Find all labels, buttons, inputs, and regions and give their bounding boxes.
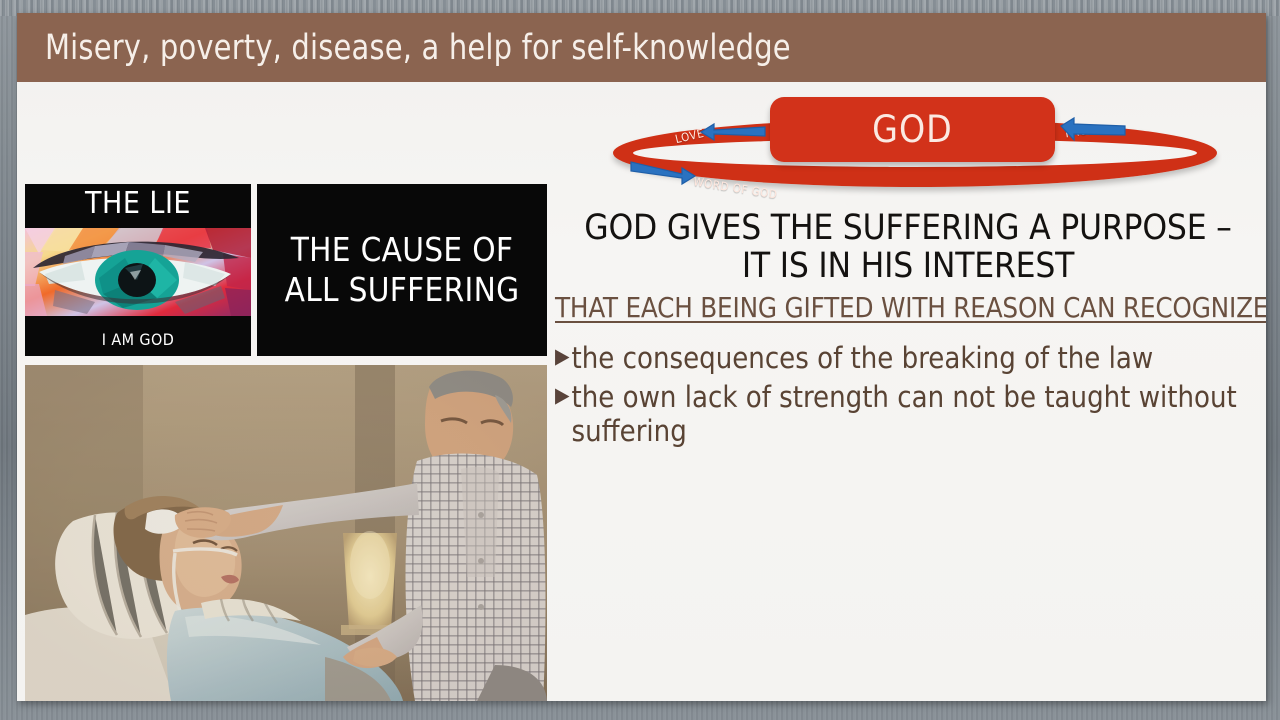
page-title: Misery, poverty, disease, a help for sel…: [45, 28, 791, 68]
list-item: ▶ the consequences of the breaking of th…: [555, 341, 1261, 375]
the-lie-card: THE LIE: [25, 184, 251, 356]
the-lie-subtitle: I AM GOD: [25, 330, 251, 349]
list-item-label: the consequences of the breaking of the …: [572, 341, 1261, 375]
content-column: GOD GIVES THE SUFFERING A PURPOSE – IT I…: [555, 209, 1261, 453]
desktop-background: Misery, poverty, disease, a help for sel…: [0, 0, 1280, 720]
cause-of-suffering-text: THE CAUSE OF ALL SUFFERING: [285, 230, 520, 311]
list-item: ▶ the own lack of strength can not be ta…: [555, 380, 1261, 448]
triangle-bullet-icon: ▶: [555, 341, 570, 373]
left-arrow-icon: [701, 121, 767, 143]
slide-title-bar: Misery, poverty, disease, a help for sel…: [17, 13, 1266, 82]
sub-headline: THAT EACH BEING GIFTED WITH REASON CAN R…: [555, 293, 1261, 323]
list-item-label: the own lack of strength can not be taug…: [572, 380, 1261, 448]
triangle-bullet-icon: ▶: [555, 380, 570, 412]
presentation-slide: Misery, poverty, disease, a help for sel…: [17, 13, 1266, 701]
main-headline: GOD GIVES THE SUFFERING A PURPOSE – IT I…: [555, 209, 1261, 285]
bullet-list: ▶ the consequences of the breaking of th…: [555, 341, 1261, 449]
god-cycle-diagram: GOD LOVE WORD OF GOD FRUIT: [605, 97, 1225, 207]
cause-of-suffering-card: THE CAUSE OF ALL SUFFERING: [257, 184, 547, 356]
geometric-low-poly-eye-image: [25, 228, 251, 316]
god-label: GOD: [872, 108, 953, 151]
the-lie-title: THE LIE: [25, 186, 251, 221]
caregiver-photo: [25, 365, 547, 701]
left-arrow-icon: [1061, 117, 1127, 139]
god-center-box: GOD: [770, 97, 1055, 162]
right-arrow-icon: [629, 157, 695, 181]
